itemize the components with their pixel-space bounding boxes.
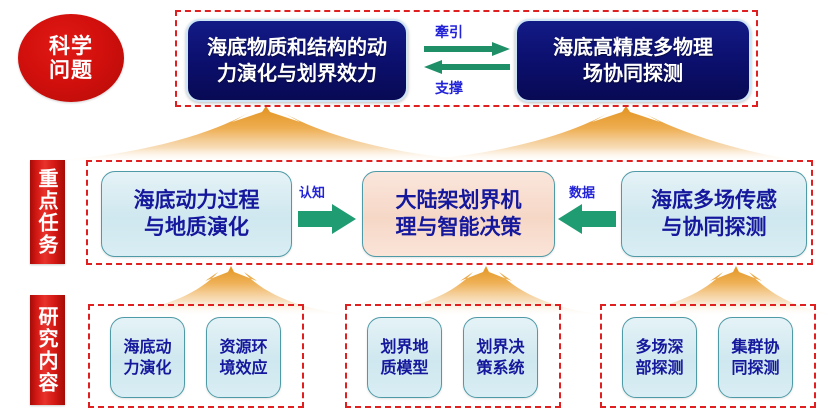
- science-box-2-line1: 海底高精度多物理: [553, 35, 713, 61]
- science-box-2-line2: 场协同探测: [553, 61, 713, 87]
- connector-backward-arrow: [424, 60, 512, 76]
- connector-backward-label: 支撑: [435, 78, 463, 98]
- research-box-2-1-line2: 质模型: [380, 358, 428, 379]
- research-box-3-1-line1: 多场深: [635, 337, 683, 358]
- task-box-3-line1: 海底多场传感: [651, 187, 777, 214]
- research-box-1-2-line1: 资源环: [219, 337, 267, 358]
- connector-data-arrow: [558, 203, 618, 235]
- task-box-3[interactable]: 海底多场传感 与协同探测: [621, 171, 807, 257]
- diagram-canvas: 科学 问题 海底物质和结构的动 力演化与划界效力 海底高精度多物理 场协同探测 …: [0, 0, 831, 416]
- task-box-1-line1: 海底动力过程: [134, 187, 260, 214]
- research-box-1-2[interactable]: 资源环 境效应: [206, 317, 281, 398]
- connector-data-label: 数据: [569, 182, 595, 201]
- research-box-1-2-line2: 境效应: [219, 358, 267, 379]
- task-box-1[interactable]: 海底动力过程 与地质演化: [101, 171, 292, 257]
- orange-arrow-up-right: [390, 106, 810, 162]
- research-box-2-1[interactable]: 划界地 质模型: [367, 317, 442, 398]
- connector-forward-arrow: [424, 42, 512, 58]
- orange-arrow-up-left: [30, 106, 502, 162]
- row-tag-research-contents: 研究内容: [30, 295, 65, 405]
- task-box-3-line2: 与协同探测: [651, 214, 777, 241]
- task-box-2-line1: 大陆架划界机: [396, 187, 522, 214]
- science-question-badge: 科学 问题: [18, 14, 124, 102]
- task-box-2-line2: 理与智能决策: [396, 214, 522, 241]
- science-question-line2: 问题: [49, 58, 93, 82]
- research-box-1-1-line2: 力演化: [123, 358, 171, 379]
- connector-forward-label: 牽引: [435, 22, 463, 42]
- research-box-3-2-line2: 同探测: [731, 358, 779, 379]
- connector-cognition-label: 认知: [299, 182, 325, 201]
- science-box-1-line1: 海底物质和结构的动: [207, 35, 387, 61]
- research-box-3-2[interactable]: 集群协 同探测: [718, 317, 793, 398]
- research-box-1-1-line1: 海底动: [123, 337, 171, 358]
- research-box-2-1-line1: 划界地: [380, 337, 428, 358]
- science-box-2[interactable]: 海底高精度多物理 场协同探测: [515, 19, 751, 102]
- science-box-1-line2: 力演化与划界效力: [207, 61, 387, 87]
- research-box-2-2[interactable]: 划界决 策系统: [463, 317, 538, 398]
- research-box-3-2-line1: 集群协: [731, 337, 779, 358]
- task-box-2[interactable]: 大陆架划界机 理与智能决策: [362, 171, 555, 257]
- task-box-1-line2: 与地质演化: [134, 214, 260, 241]
- row-tag-key-tasks: 重点任务: [30, 160, 65, 264]
- research-box-2-2-line2: 策系统: [476, 358, 524, 379]
- research-box-1-1[interactable]: 海底动 力演化: [110, 317, 185, 398]
- science-box-1[interactable]: 海底物质和结构的动 力演化与划界效力: [186, 19, 408, 102]
- science-question-line1: 科学: [49, 34, 93, 58]
- research-box-3-1[interactable]: 多场深 部探测: [622, 317, 697, 398]
- research-box-2-2-line1: 划界决: [476, 337, 524, 358]
- connector-cognition-arrow: [298, 203, 358, 235]
- research-box-3-1-line2: 部探测: [635, 358, 683, 379]
